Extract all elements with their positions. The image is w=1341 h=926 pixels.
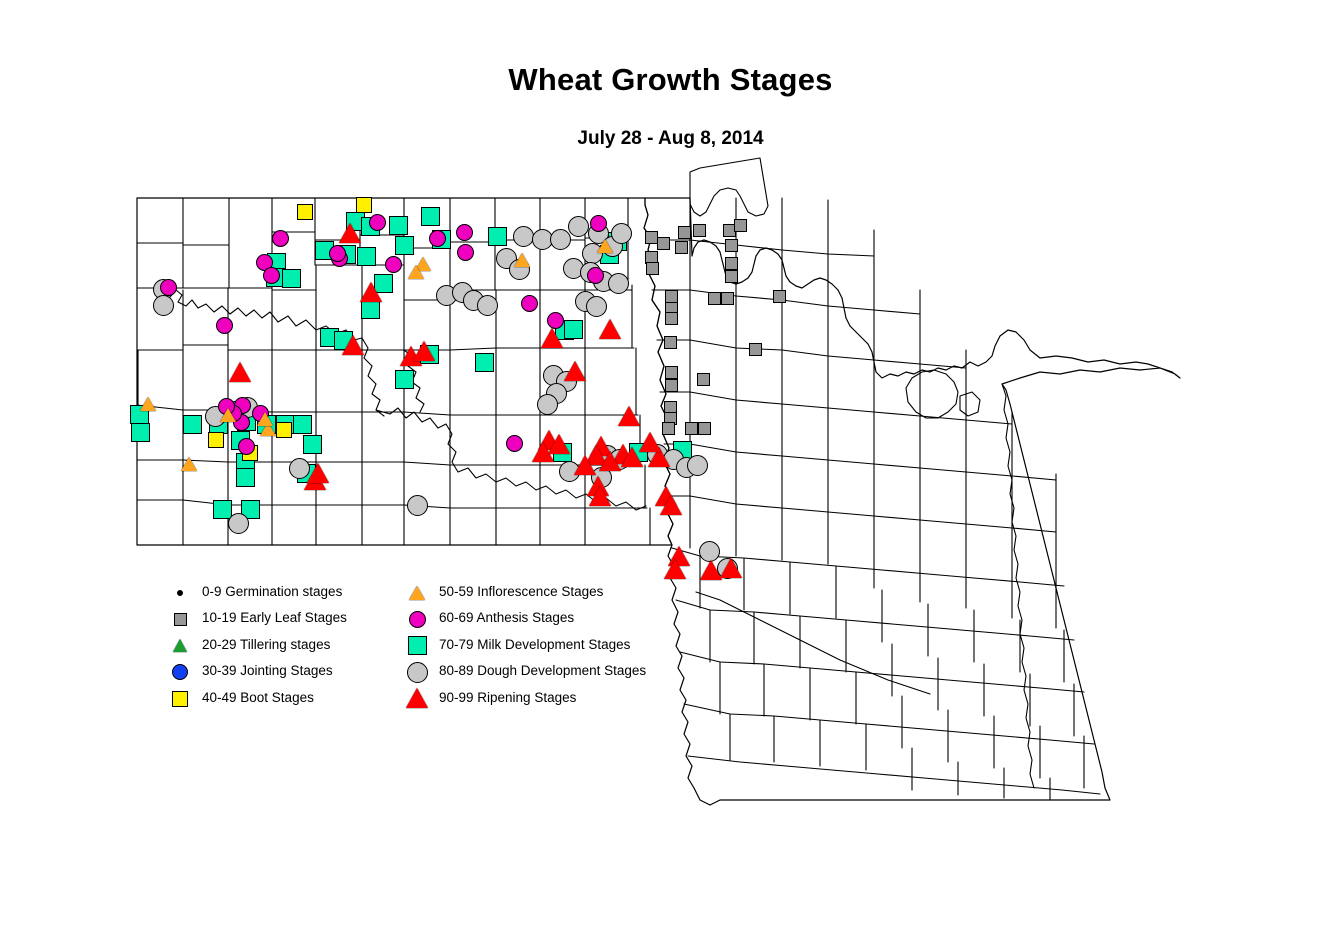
map-marker-ripening <box>548 434 570 454</box>
map-marker-ripening <box>229 362 251 382</box>
map-marker-early_leaf <box>725 239 738 252</box>
map-marker-anthesis <box>263 267 280 284</box>
map-marker-anthesis <box>587 267 604 284</box>
legend-label-dough: 80-89 Dough Development Stages <box>439 663 646 678</box>
data-point-layer <box>0 0 1341 926</box>
map-marker-inflorescence <box>257 412 273 426</box>
map-marker-boot <box>208 432 224 448</box>
square-gray-icon-glyph <box>174 613 187 626</box>
map-marker-anthesis <box>547 312 564 329</box>
legend-label-tillering: 20-29 Tillering stages <box>202 637 330 652</box>
legend-label-early_leaf: 10-19 Early Leaf Stages <box>202 610 347 625</box>
legend: 0-9 Germination stages10-19 Early Leaf S… <box>165 580 725 712</box>
triangle-red-icon-glyph <box>406 688 428 708</box>
map-marker-early_leaf <box>665 366 678 379</box>
circle-blue-icon <box>165 659 195 685</box>
map-marker-milk <box>395 370 414 389</box>
map-marker-boot <box>297 204 313 220</box>
square-yellow-icon <box>165 686 195 712</box>
map-marker-ripening <box>599 319 621 339</box>
map-marker-milk <box>357 247 376 266</box>
legend-label-ripening: 90-99 Ripening Stages <box>439 690 576 705</box>
map-marker-milk <box>389 216 408 235</box>
map-marker-early_leaf <box>721 292 734 305</box>
map-marker-milk <box>488 227 507 246</box>
map-marker-early_leaf <box>725 270 738 283</box>
map-marker-anthesis <box>238 438 255 455</box>
square-gray-icon <box>165 606 195 632</box>
circle-magenta-icon-glyph <box>409 611 426 628</box>
triangle-green-icon-glyph <box>173 639 187 652</box>
map-marker-boot <box>276 422 292 438</box>
map-marker-early_leaf <box>664 336 677 349</box>
map-marker-early_leaf <box>773 290 786 303</box>
map-marker-milk <box>475 353 494 372</box>
map-marker-early_leaf <box>646 262 659 275</box>
map-marker-dough <box>687 455 708 476</box>
map-marker-dough <box>477 295 498 316</box>
map-marker-milk <box>293 415 312 434</box>
map-marker-milk <box>395 236 414 255</box>
map-marker-early_leaf <box>675 241 688 254</box>
map-marker-milk <box>183 415 202 434</box>
map-marker-ripening <box>599 451 621 471</box>
map-marker-dough <box>550 229 571 250</box>
map-marker-ripening <box>589 486 611 506</box>
map-marker-ripening <box>618 406 640 426</box>
map-marker-milk <box>213 500 232 519</box>
map-marker-anthesis <box>521 295 538 312</box>
map-marker-early_leaf <box>708 292 721 305</box>
map-marker-dough <box>568 216 589 237</box>
dot-icon-glyph <box>177 590 183 596</box>
map-marker-dough <box>228 513 249 534</box>
map-marker-milk <box>282 269 301 288</box>
circle-gray-icon-glyph <box>407 662 428 683</box>
triangle-red-icon <box>402 686 432 712</box>
map-marker-dough <box>537 394 558 415</box>
map-marker-boot <box>356 197 372 213</box>
circle-magenta-icon <box>402 606 432 632</box>
map-marker-inflorescence <box>181 457 197 471</box>
map-marker-inflorescence <box>408 265 424 279</box>
map-marker-early_leaf <box>734 219 747 232</box>
map-marker-early_leaf <box>665 379 678 392</box>
map-marker-anthesis <box>429 230 446 247</box>
map-marker-anthesis <box>506 435 523 452</box>
map-marker-inflorescence <box>140 397 156 411</box>
map-area <box>0 0 1341 926</box>
map-marker-early_leaf <box>697 373 710 386</box>
map-marker-anthesis <box>385 256 402 273</box>
map-marker-ripening <box>720 558 742 578</box>
circle-gray-icon <box>402 659 432 685</box>
map-marker-ripening <box>574 455 596 475</box>
map-marker-ripening <box>541 328 563 348</box>
map-marker-early_leaf <box>685 422 698 435</box>
square-green-icon-glyph <box>408 636 427 655</box>
triangle-green-icon <box>165 633 195 659</box>
map-marker-dough <box>407 495 428 516</box>
map-marker-early_leaf <box>657 237 670 250</box>
legend-label-boot: 40-49 Boot Stages <box>202 690 314 705</box>
map-marker-ripening <box>360 282 382 302</box>
square-yellow-icon-glyph <box>172 691 188 707</box>
map-marker-inflorescence <box>597 239 613 253</box>
map-marker-anthesis <box>160 279 177 296</box>
map-marker-ripening <box>413 341 435 361</box>
map-marker-anthesis <box>272 230 289 247</box>
map-marker-dough <box>699 541 720 562</box>
legend-label-germination: 0-9 Germination stages <box>202 584 342 599</box>
legend-label-inflorescence: 50-59 Inflorescence Stages <box>439 584 603 599</box>
map-marker-ripening <box>342 335 364 355</box>
map-marker-dough <box>608 273 629 294</box>
map-marker-ripening <box>307 463 329 483</box>
map-marker-milk <box>303 435 322 454</box>
map-marker-anthesis <box>329 245 346 262</box>
map-marker-milk <box>236 468 255 487</box>
triangle-orange-icon-glyph <box>409 586 425 600</box>
map-marker-anthesis <box>457 244 474 261</box>
map-marker-ripening <box>639 432 661 452</box>
map-marker-ripening <box>339 223 361 243</box>
dot-icon <box>165 580 195 606</box>
map-marker-early_leaf <box>665 312 678 325</box>
map-marker-anthesis <box>369 214 386 231</box>
circle-blue-icon-glyph <box>172 664 188 680</box>
map-marker-milk <box>564 320 583 339</box>
map-marker-milk <box>421 207 440 226</box>
map-marker-ripening <box>700 560 722 580</box>
map-marker-ripening <box>664 559 686 579</box>
map-marker-ripening <box>564 361 586 381</box>
map-marker-milk <box>131 423 150 442</box>
legend-label-jointing: 30-39 Jointing Stages <box>202 663 333 678</box>
map-marker-early_leaf <box>698 422 711 435</box>
map-marker-inflorescence <box>514 253 530 267</box>
map-marker-anthesis <box>216 317 233 334</box>
map-marker-anthesis <box>590 215 607 232</box>
map-marker-dough <box>611 223 632 244</box>
map-marker-milk <box>361 300 380 319</box>
map-marker-inflorescence <box>220 408 236 422</box>
square-green-icon <box>402 633 432 659</box>
map-marker-ripening <box>660 495 682 515</box>
map-marker-early_leaf <box>749 343 762 356</box>
map-marker-early_leaf <box>662 422 675 435</box>
map-marker-early_leaf <box>725 257 738 270</box>
legend-label-milk: 70-79 Milk Development Stages <box>439 637 630 652</box>
map-marker-dough <box>586 296 607 317</box>
triangle-orange-icon <box>402 580 432 606</box>
map-marker-dough <box>513 226 534 247</box>
legend-label-anthesis: 60-69 Anthesis Stages <box>439 610 574 625</box>
map-marker-early_leaf <box>678 226 691 239</box>
map-marker-early_leaf <box>693 224 706 237</box>
map-marker-anthesis <box>456 224 473 241</box>
map-marker-dough <box>153 295 174 316</box>
